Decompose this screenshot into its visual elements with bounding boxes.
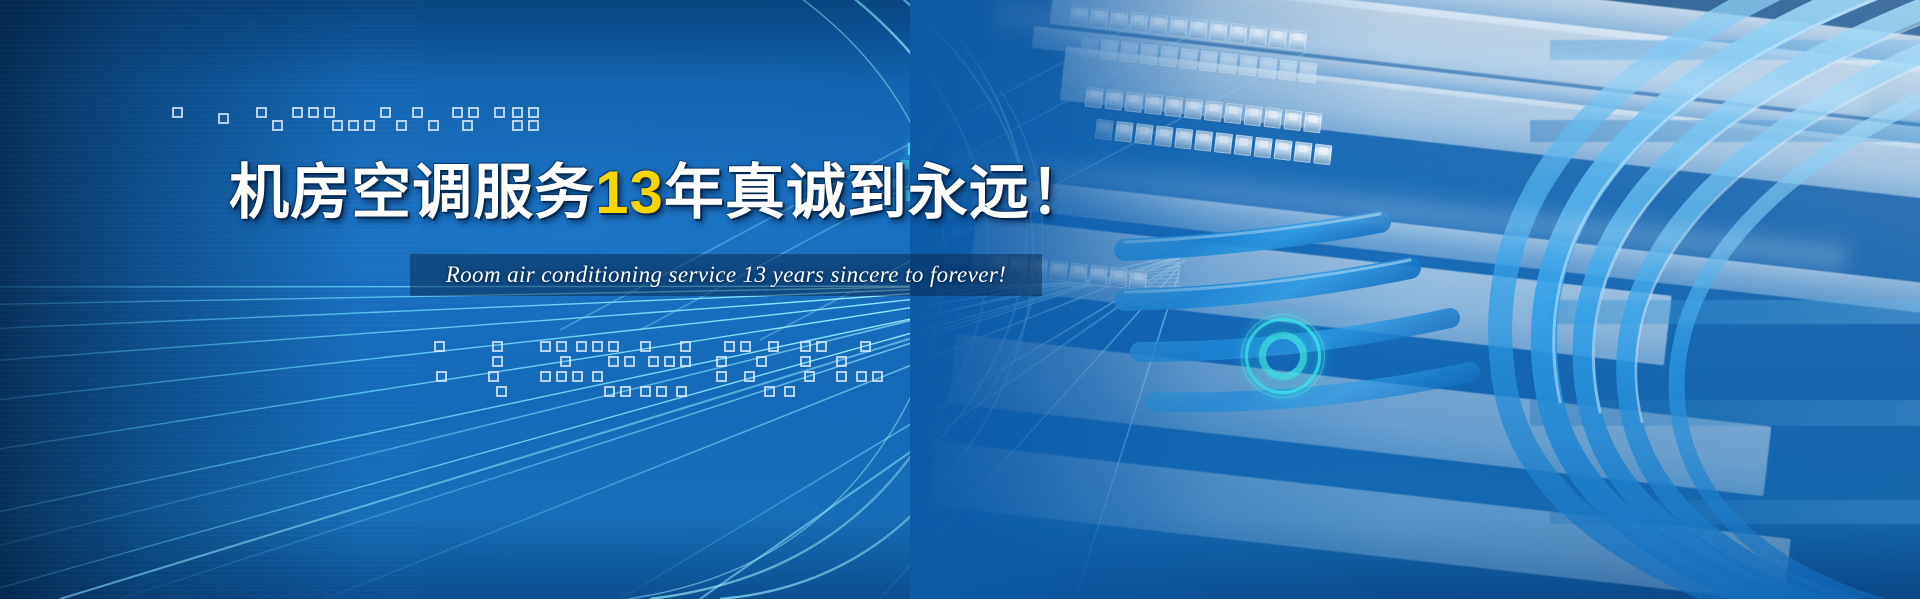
data-square [680, 341, 691, 352]
data-square [836, 371, 847, 382]
data-square [218, 113, 229, 124]
data-square [396, 120, 407, 131]
data-square [664, 356, 675, 367]
data-square [452, 107, 463, 118]
data-square [462, 120, 473, 131]
hero-banner: 机房空调服务13年真诚到永远！ Room air conditioning se… [0, 0, 1920, 599]
data-square [436, 371, 447, 382]
data-square [592, 371, 603, 382]
data-square [528, 120, 539, 131]
data-square [804, 371, 815, 382]
data-square [468, 107, 479, 118]
data-square [764, 386, 775, 397]
data-square [496, 386, 507, 397]
data-square [348, 120, 359, 131]
data-square [608, 356, 619, 367]
data-square [716, 371, 727, 382]
data-square [512, 107, 523, 118]
data-square [740, 341, 751, 352]
data-square [800, 341, 811, 352]
data-square [576, 341, 587, 352]
data-square [560, 356, 571, 367]
data-square [836, 356, 847, 367]
data-square [860, 341, 871, 352]
data-square [332, 120, 343, 131]
data-square [648, 356, 659, 367]
headline-part2: 年真诚到永远！ [664, 159, 1091, 226]
data-square [324, 107, 335, 118]
data-square [640, 386, 651, 397]
data-square [724, 341, 735, 352]
data-square [592, 341, 603, 352]
data-square [856, 371, 867, 382]
data-square [434, 341, 445, 352]
data-square [512, 120, 523, 131]
data-square [380, 107, 391, 118]
data-square [676, 386, 687, 397]
data-square [620, 386, 631, 397]
data-square [272, 120, 283, 131]
photo-left-fade [910, 0, 1920, 599]
subtitle-text: Room air conditioning service 13 years s… [446, 262, 1007, 288]
data-square [624, 356, 635, 367]
data-square [412, 107, 423, 118]
data-square [784, 386, 795, 397]
headline-accent-years: 13 [595, 159, 664, 226]
data-square [604, 386, 615, 397]
data-square [640, 341, 651, 352]
data-square [528, 107, 539, 118]
data-square [716, 356, 727, 367]
data-square [744, 371, 755, 382]
data-square [492, 341, 503, 352]
data-square [680, 356, 691, 367]
data-square [800, 356, 811, 367]
data-square [756, 356, 767, 367]
data-square [872, 371, 883, 382]
subtitle: Room air conditioning service 13 years s… [410, 254, 1042, 296]
data-square [556, 371, 567, 382]
data-square [540, 371, 551, 382]
data-square [172, 107, 183, 118]
headline: 机房空调服务13年真诚到永远！ [0, 163, 1920, 223]
data-square [540, 341, 551, 352]
headline-part1: 机房空调服务 [229, 159, 595, 226]
data-square [428, 120, 439, 131]
data-square [656, 386, 667, 397]
data-square [492, 356, 503, 367]
data-square [608, 341, 619, 352]
data-square [256, 107, 267, 118]
data-square [816, 341, 827, 352]
data-square [556, 341, 567, 352]
datacenter-photo [910, 0, 1920, 599]
data-square [494, 107, 505, 118]
data-square [308, 107, 319, 118]
data-square [292, 107, 303, 118]
data-square [572, 371, 583, 382]
data-square [364, 120, 375, 131]
data-square [768, 341, 779, 352]
data-square [488, 371, 499, 382]
